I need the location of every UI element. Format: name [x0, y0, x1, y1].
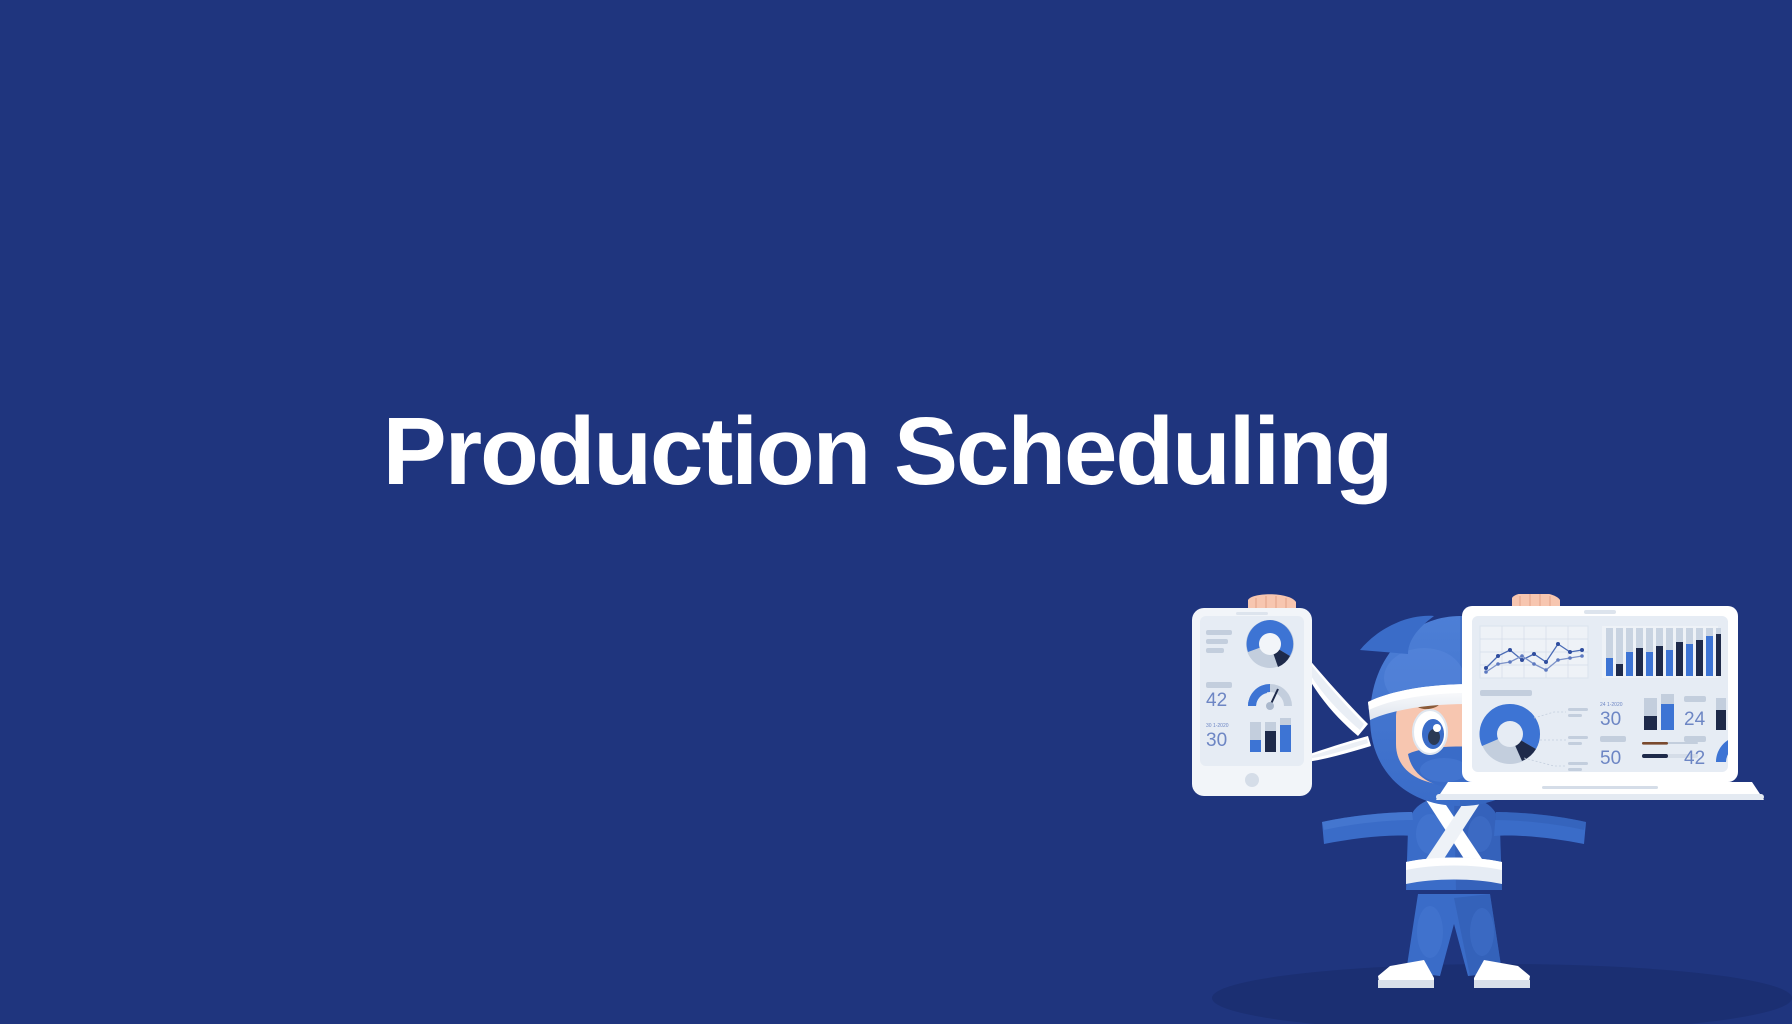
- ninja-eye-left: [1413, 710, 1447, 754]
- laptop-device: 24 1-2020 30 24: [1436, 594, 1768, 800]
- svg-text:24 1-2020: 24 1-2020: [1600, 702, 1623, 708]
- slide-root: Production Scheduling: [0, 0, 1792, 1024]
- laptop-line-chart: [1480, 626, 1588, 678]
- laptop-kpi-42: 42: [1684, 736, 1706, 769]
- tablet-home-button[interactable]: [1245, 773, 1259, 787]
- page-title: Production Scheduling: [383, 404, 1392, 500]
- svg-text:30: 30: [1600, 709, 1621, 730]
- ninja-arm-right: [1494, 812, 1586, 844]
- svg-text:42: 42: [1684, 748, 1705, 769]
- laptop-kpi-30: 24 1-2020 30: [1600, 702, 1623, 730]
- svg-text:30 1-2020: 30 1-2020: [1206, 723, 1229, 729]
- tablet-device: 42 30 1-2020 30: [1192, 594, 1312, 796]
- svg-text:30: 30: [1206, 730, 1227, 751]
- tablet-kpi-30: 30 1-2020 30: [1206, 723, 1229, 751]
- tablet-mini-bar-chart: [1250, 718, 1291, 752]
- ninja-shoe-left: [1378, 960, 1434, 988]
- svg-text:42: 42: [1206, 690, 1227, 711]
- laptop-bar-chart: [1602, 626, 1721, 678]
- svg-text:50: 50: [1600, 748, 1621, 769]
- svg-text:24: 24: [1684, 709, 1706, 730]
- ninja-illustration: 42 30 1-2020 30: [1172, 594, 1792, 1024]
- laptop-kpi-24: 24: [1684, 696, 1706, 730]
- ninja-arm-left: [1322, 812, 1414, 844]
- tablet-donut-chart: [1246, 620, 1294, 668]
